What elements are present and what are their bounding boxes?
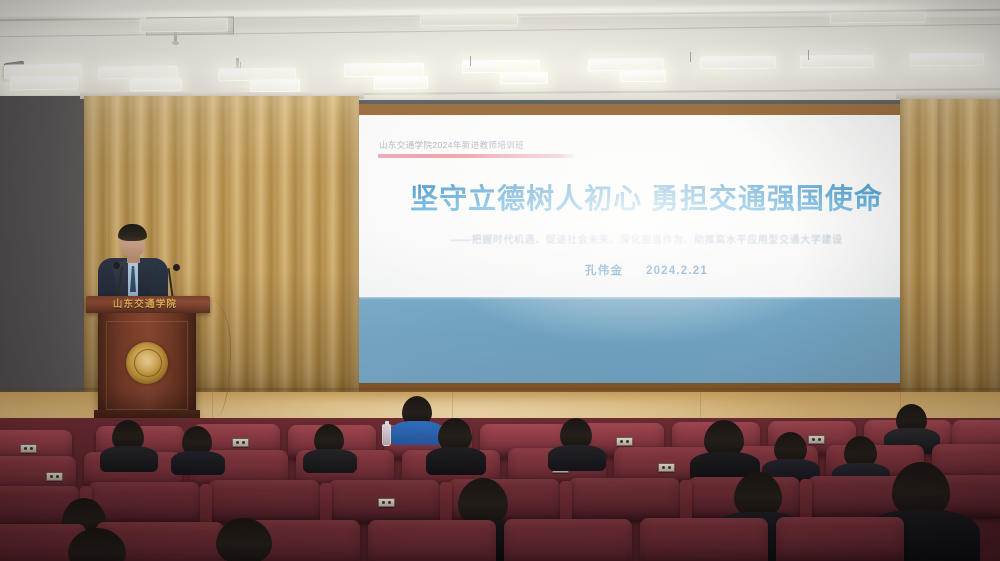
audience-member	[890, 404, 934, 448]
audience-head	[68, 528, 126, 561]
slide-header-text: 山东交通学院2024年新进教师培训班	[379, 139, 524, 151]
seat-number-plate	[616, 437, 633, 446]
seat	[504, 519, 632, 561]
curtain-rod	[896, 92, 1000, 99]
seat	[368, 520, 496, 561]
ceiling-panel-light	[374, 76, 428, 90]
auditorium-photo: 山东交通学院2024年新进教师培训班 坚守立德树人初心 勇担交通强国使命 ——把…	[0, 0, 1000, 561]
seat-number-plate	[20, 444, 37, 453]
audience-shoulders	[548, 445, 606, 471]
seat-armrest	[440, 482, 452, 524]
slide-date: 2024.2.21	[646, 265, 708, 277]
slide-title: 坚守立德树人初心 勇担交通强国使命	[359, 177, 934, 217]
audience-shoulders	[100, 446, 158, 472]
audience-member	[210, 518, 280, 561]
slide-accent-bar	[378, 154, 575, 158]
slide-bottom-blue-band	[359, 297, 934, 383]
audience-member	[62, 528, 134, 561]
seat-number-plate	[378, 498, 395, 507]
water-bottle	[382, 424, 391, 446]
university-emblem-icon	[126, 342, 168, 384]
seat-armrest	[800, 479, 812, 521]
seat	[568, 478, 680, 522]
audience-member	[434, 418, 478, 468]
seat	[640, 518, 768, 561]
podium-plaque-text: 山东交通学院	[92, 298, 198, 311]
seat-armrest	[680, 480, 692, 522]
ceiling-panel-light	[620, 70, 666, 82]
seat-number-plate	[46, 472, 63, 481]
slide-band-edge	[359, 295, 934, 298]
ceiling-wire	[690, 52, 691, 62]
seat-armrest	[560, 481, 572, 523]
sprinkler-head	[174, 32, 177, 42]
ceiling-panel-light	[800, 55, 874, 69]
seat-number-plate	[232, 438, 249, 447]
audience-head	[458, 478, 508, 526]
ceiling-panel-light	[700, 56, 776, 70]
ceiling-panel-light	[420, 14, 518, 26]
slide-speaker-name: 孔伟金	[585, 265, 623, 277]
seat-armrest	[320, 483, 332, 525]
audience-member	[310, 424, 350, 468]
audience-member	[396, 396, 438, 440]
microphone-head	[173, 264, 180, 271]
audience-member	[556, 418, 600, 466]
audience-shoulders	[171, 451, 225, 475]
ceiling-panel-light	[140, 18, 228, 33]
projected-slide: 山东交通学院2024年新进教师培训班 坚守立德树人初心 勇担交通强国使命 ——把…	[359, 115, 934, 383]
ceiling-wire	[470, 56, 471, 66]
audience-shoulders	[426, 447, 486, 475]
ceiling-wire	[808, 50, 809, 60]
audience-member	[108, 420, 150, 466]
ceiling-panel-light	[130, 78, 182, 92]
curtain-right-outer	[938, 96, 1000, 414]
ceiling-panel-light	[250, 79, 300, 93]
audience-head	[216, 518, 272, 561]
slide-byline: 孔伟金 2024.2.21	[359, 262, 934, 278]
ceiling-panel-light	[910, 53, 984, 67]
slide-subtitle: ——把握时代机遇、促进社会未来、深化担当作为、助推高水平应用型交通大学建设	[359, 231, 934, 246]
audience-shoulders	[303, 449, 357, 473]
microphone-head	[113, 262, 120, 269]
ceiling-panel-light	[830, 11, 926, 23]
sprinkler-head	[236, 58, 239, 68]
seat	[776, 517, 904, 561]
ceiling-panel-light	[10, 75, 78, 90]
wall-panel-left	[0, 96, 96, 396]
audience-member	[178, 426, 218, 470]
podium-cable	[196, 300, 231, 416]
ceiling-panel-light	[500, 72, 548, 84]
seat-number-plate	[658, 463, 675, 472]
audience-member	[700, 420, 752, 474]
speaker-hair	[118, 224, 147, 241]
